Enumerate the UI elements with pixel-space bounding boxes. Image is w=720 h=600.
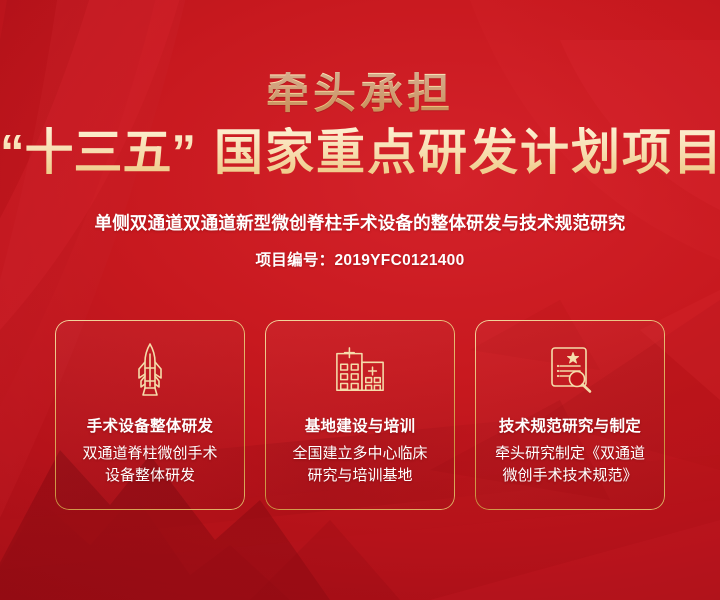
project-code: 项目编号：2019YFC0121400: [0, 248, 720, 270]
card-title: 技术规范研究与制定: [499, 414, 641, 436]
feature-card-list: 手术设备整体研发 双通道脊柱微创手术 设备整体研发: [55, 320, 665, 510]
page-title-line-2: “十三五”国家重点研发计划项目: [0, 127, 720, 180]
card-title: 手术设备整体研发: [87, 414, 213, 436]
document-search-icon: [544, 342, 596, 398]
card-description-line-2: 设备整体研发: [105, 467, 195, 484]
poster-banner: 牵头承担 “十三五”国家重点研发计划项目 单侧双通道双通道新型微创脊柱手术设备的…: [0, 0, 720, 600]
feature-card-training-base[interactable]: 基地建设与培训 全国建立多中心临床 研究与培训基地: [265, 320, 455, 510]
title-rest: 国家重点研发计划项目: [214, 126, 720, 180]
card-description-line-1: 全国建立多中心临床: [292, 445, 427, 462]
card-description-line-1: 双通道脊柱微创手术: [82, 445, 217, 462]
feature-card-tech-standard[interactable]: 技术规范研究与制定 牵头研究制定《双通道 微创手术技术规范》: [475, 320, 665, 510]
card-title: 基地建设与培训: [305, 414, 416, 436]
card-description: 牵头研究制定《双通道 微创手术技术规范》: [485, 443, 655, 487]
project-subtitle: 单侧双通道双通道新型微创脊柱手术设备的整体研发与技术规范研究: [0, 210, 720, 235]
page-title-line-1: 牵头承担: [0, 72, 720, 117]
hospital-building-icon: [334, 342, 386, 398]
rocket-icon: [124, 342, 176, 398]
headline-block: 牵头承担 “十三五”国家重点研发计划项目: [0, 72, 720, 180]
card-description-line-2: 研究与培训基地: [307, 467, 412, 484]
card-description-line-1: 牵头研究制定《双通道: [495, 445, 645, 462]
title-quoted-term: “十三五”: [0, 126, 196, 180]
card-description: 双通道脊柱微创手术 设备整体研发: [72, 443, 227, 487]
feature-card-equipment[interactable]: 手术设备整体研发 双通道脊柱微创手术 设备整体研发: [55, 320, 245, 510]
card-description: 全国建立多中心临床 研究与培训基地: [282, 443, 437, 487]
card-description-line-2: 微创手术技术规范》: [502, 467, 637, 484]
